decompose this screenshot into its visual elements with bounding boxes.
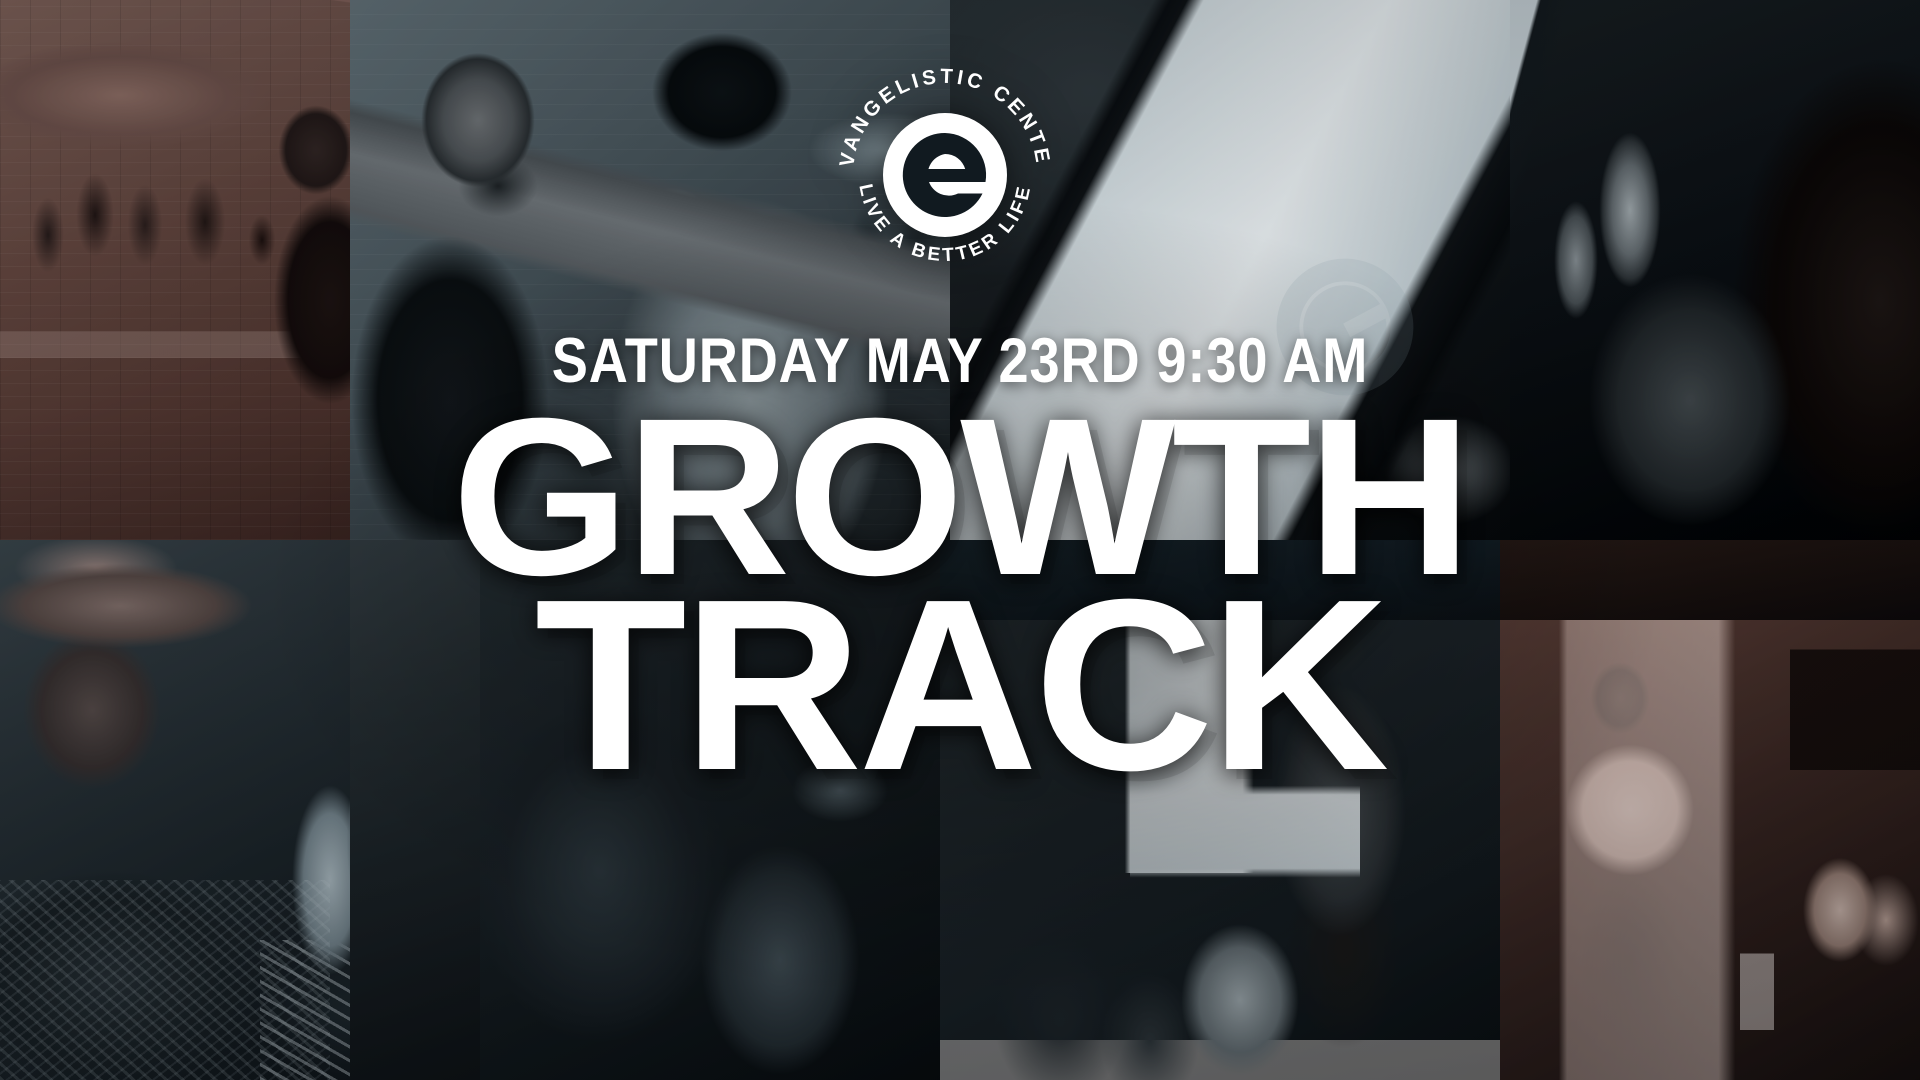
clapping-hands-dark-photo-image	[1510, 0, 1920, 540]
smiling-woman-photo	[1500, 620, 1920, 1080]
smiling-woman-photo-image	[1500, 620, 1920, 1080]
logo-e-mark	[883, 113, 1007, 237]
outreach-tent-photo	[0, 0, 350, 540]
promo-poster: EVANGELISTIC CENTER LIVE A BETTER LIFE S…	[0, 0, 1920, 1080]
clapping-hands-dark-photo	[1510, 0, 1920, 540]
collage-filler-right	[1500, 540, 1920, 620]
clapping-blue-photo-image	[480, 540, 940, 1080]
applauding-room-photo	[940, 620, 1500, 1080]
collage-filler-center-image	[940, 540, 1500, 620]
collage-filler-left	[350, 540, 480, 1080]
collage-filler-center	[940, 540, 1500, 620]
applauding-room-photo-image	[940, 620, 1500, 1080]
outreach-tent-photo-image	[0, 0, 350, 540]
collage-filler-right-image	[1500, 540, 1920, 620]
evangelistic-center-logo-icon: EVANGELISTIC CENTER LIVE A BETTER LIFE	[825, 55, 1065, 295]
collage-filler-left-image	[350, 540, 480, 1080]
clapping-blue-photo	[480, 540, 940, 1080]
